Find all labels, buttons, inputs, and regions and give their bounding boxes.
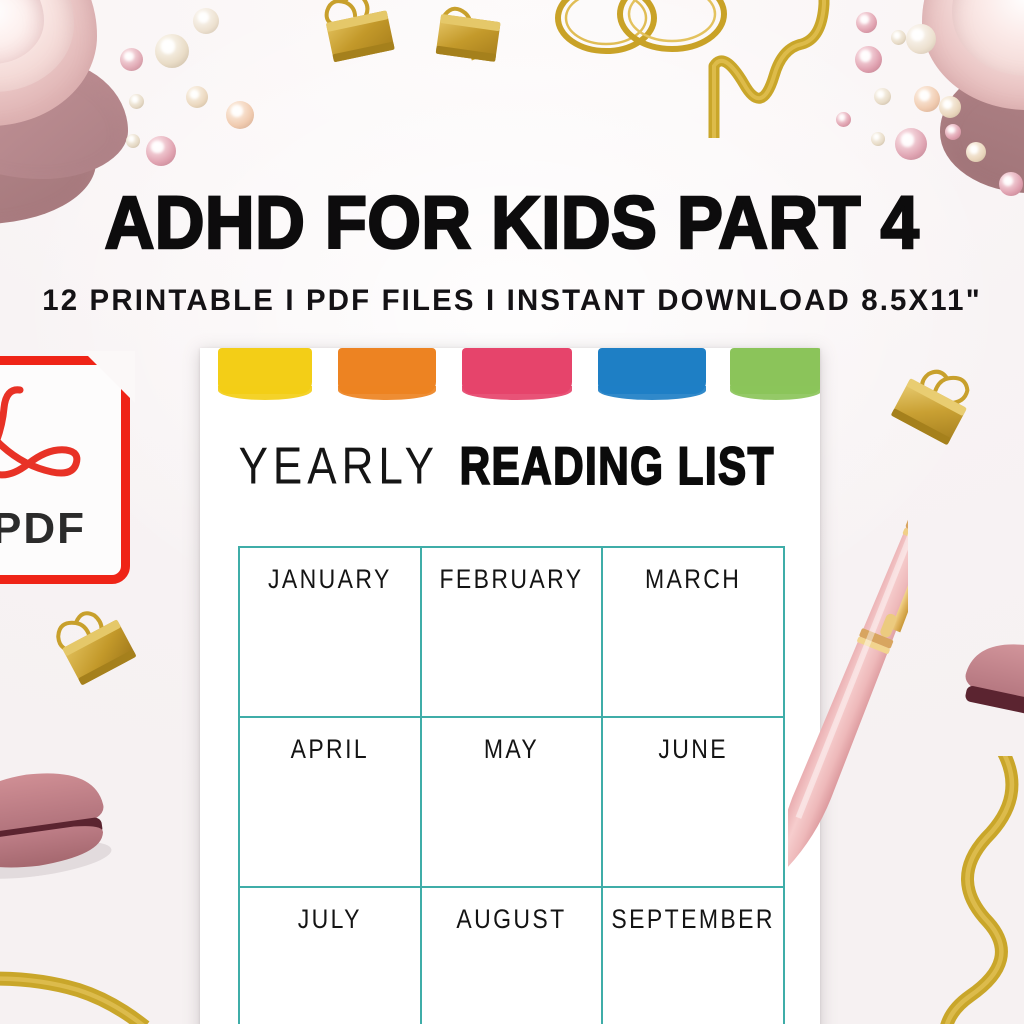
pearl <box>945 124 961 140</box>
pearl <box>914 86 940 112</box>
worksheet-title-reading-list: READING LIST <box>460 437 775 497</box>
pink-swatch <box>462 348 572 394</box>
month-cell-june[interactable]: JUNE <box>603 718 785 888</box>
pearl <box>874 88 891 105</box>
title-block: ADHD FOR KIDS PART 4 12 PRINTABLE I PDF … <box>0 186 1024 260</box>
pearl <box>836 112 851 127</box>
pearl <box>906 24 936 54</box>
green-swatch <box>730 348 820 394</box>
month-cell-march[interactable]: MARCH <box>603 548 785 718</box>
month-label: MARCH <box>645 564 741 595</box>
pearl <box>966 142 986 162</box>
page-title: ADHD FOR KIDS PART 4 <box>36 186 988 260</box>
pearl <box>129 94 144 109</box>
worksheet-title: YEARLYREADING LIST <box>200 442 820 492</box>
month-cell-july[interactable]: JULY <box>240 888 422 1024</box>
worksheet-page[interactable]: YEARLYREADING LIST JANUARY FEBRUARY MARC… <box>200 348 820 1024</box>
pearl <box>856 12 877 33</box>
gold-ribbon-bottom-right <box>900 756 1024 1024</box>
poster-canvas: ADHD FOR KIDS PART 4 12 PRINTABLE I PDF … <box>0 0 1024 1024</box>
month-cell-february[interactable]: FEBRUARY <box>422 548 604 718</box>
pearl <box>855 46 882 73</box>
month-cell-september[interactable]: SEPTEMBER <box>603 888 785 1024</box>
month-label: JANUARY <box>268 564 392 595</box>
watercolor-swatch-row <box>200 348 820 406</box>
pdf-badge[interactable]: PDF <box>0 356 130 584</box>
pearl <box>891 30 906 45</box>
month-label: JUNE <box>658 734 728 765</box>
pearl <box>155 34 189 68</box>
page-subtitle: 12 PRINTABLE I PDF FILES I INSTANT DOWNL… <box>2 286 1021 316</box>
yellow-swatch <box>218 348 312 394</box>
month-label: SEPTEMBER <box>611 904 774 935</box>
month-cell-may[interactable]: MAY <box>422 718 604 888</box>
month-cell-august[interactable]: AUGUST <box>422 888 604 1024</box>
macaron-left <box>0 745 122 886</box>
gold-ribbon-top <box>596 0 836 152</box>
blue-swatch <box>598 348 706 394</box>
month-label: FEBRUARY <box>439 564 583 595</box>
worksheet-title-yearly: YEARLY <box>239 438 439 497</box>
adobe-acrobat-swirl-icon <box>0 382 82 492</box>
month-grid: JANUARY FEBRUARY MARCH APRIL MAY JUNE JU… <box>238 546 785 1024</box>
month-label: MAY <box>484 734 539 765</box>
pdf-badge-folded-corner <box>83 351 135 403</box>
pearl <box>186 86 208 108</box>
pearl <box>146 136 176 166</box>
month-label: AUGUST <box>456 904 566 935</box>
month-label: JULY <box>298 904 362 935</box>
orange-swatch <box>338 348 436 394</box>
pearl <box>226 101 254 129</box>
pearl <box>939 96 961 118</box>
pearl <box>193 8 219 34</box>
month-cell-april[interactable]: APRIL <box>240 718 422 888</box>
pearl <box>895 128 927 160</box>
gold-binder-clip-top-center <box>419 0 518 100</box>
month-label: APRIL <box>291 734 369 765</box>
pearl <box>871 132 885 146</box>
pink-pen <box>788 498 908 908</box>
pearl <box>120 48 143 71</box>
pearl <box>126 134 140 148</box>
month-cell-january[interactable]: JANUARY <box>240 548 422 718</box>
pdf-badge-label: PDF <box>0 504 130 554</box>
